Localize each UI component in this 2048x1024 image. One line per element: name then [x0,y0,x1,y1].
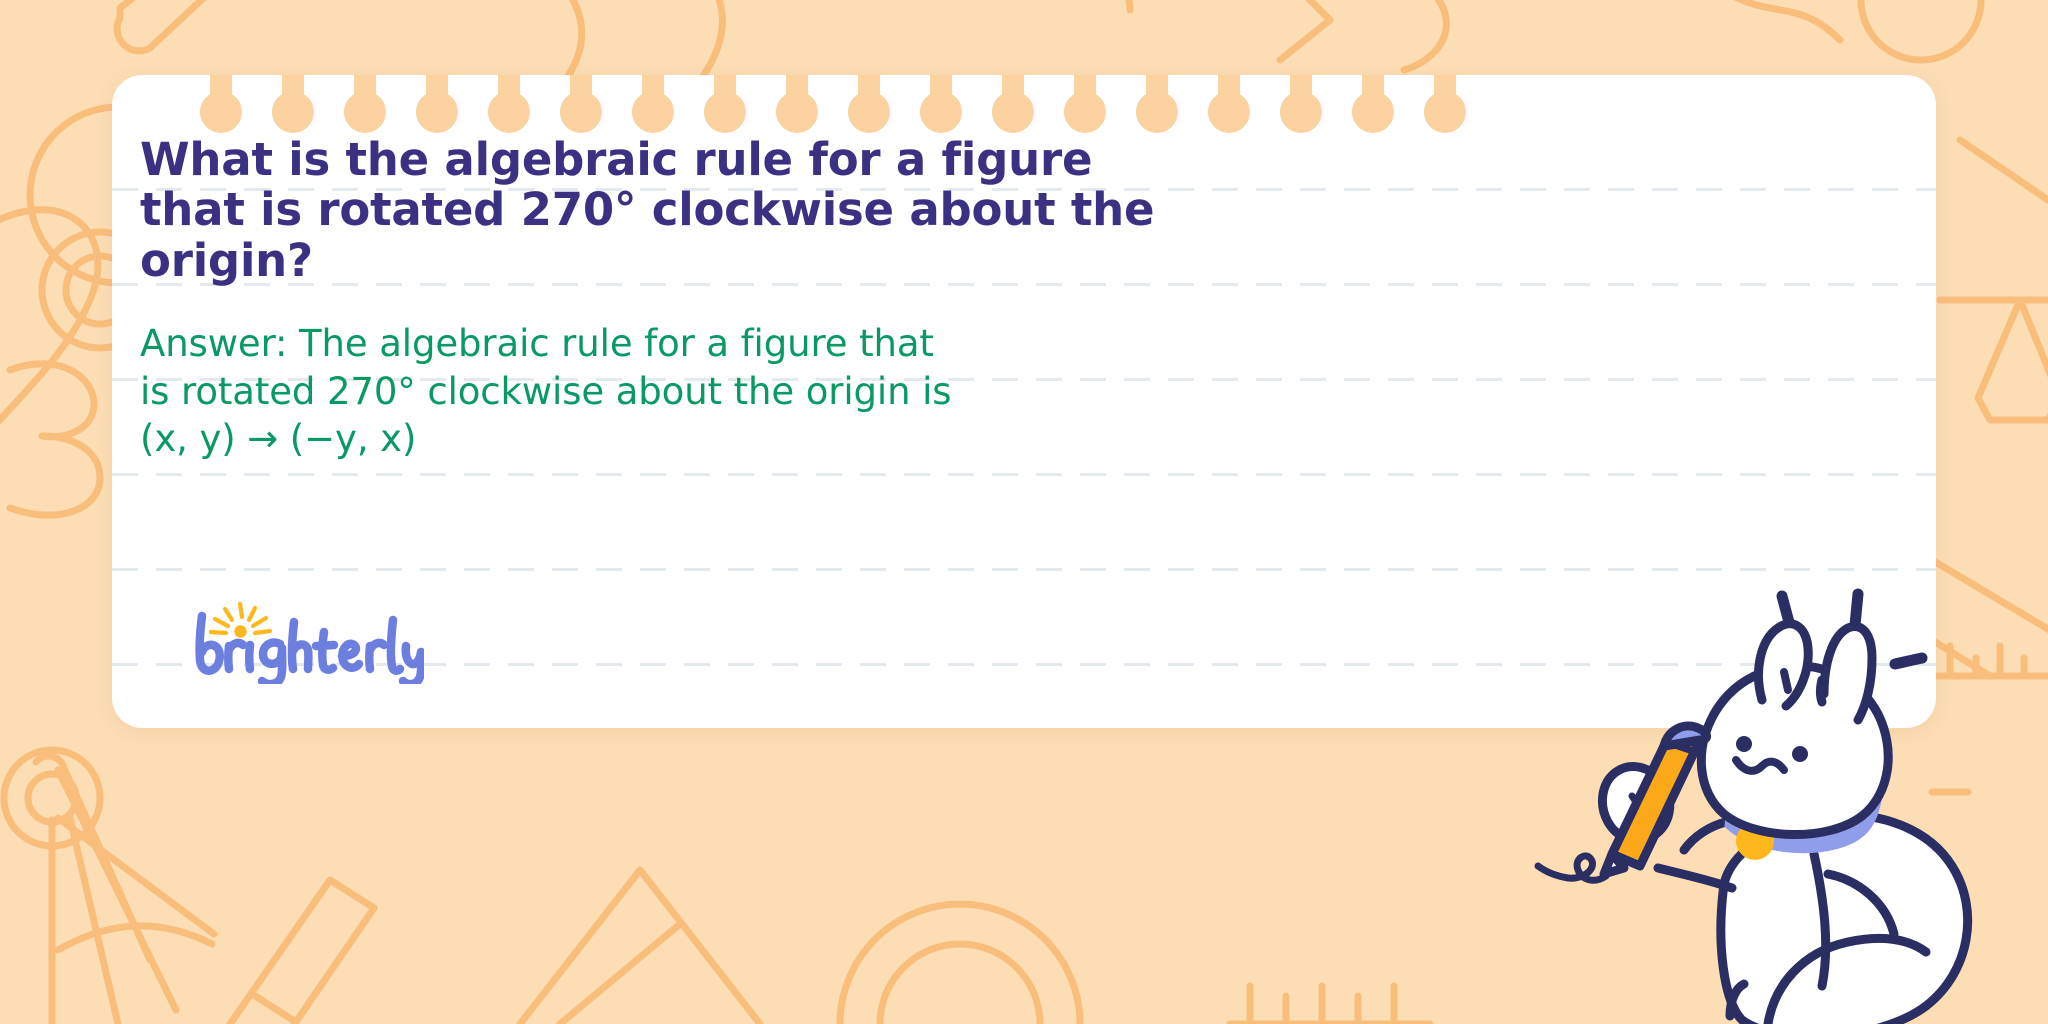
bunny-eye-right [1792,746,1808,762]
binding-hole [1146,75,1168,105]
question-line: origin? [140,234,313,287]
answer-text: Answer: The algebraic rule for a figure … [140,320,1200,462]
bunny-mascot [1528,554,2008,1024]
pencil-squiggle [1538,856,1606,880]
binding-hole [210,75,232,105]
bunny-ear-left [1759,624,1809,706]
binding-hole [786,75,808,105]
logo-wordmark [200,616,422,684]
ruled-line [112,473,1936,476]
ear-inner-left [1784,672,1788,690]
binding-hole [354,75,376,105]
binding-hole [858,75,880,105]
bunny-arm [1658,868,1732,888]
bunny-eye-left [1736,736,1752,752]
brighterly-logo[interactable] [184,598,424,684]
question-text: What is the algebraic rule for a figure … [140,135,1200,286]
question-line: What is the algebraic rule for a figure [140,133,1092,186]
ear-inner-right [1821,680,1823,702]
binding-hole [1362,75,1384,105]
binding-hole [1218,75,1240,105]
binding-hole [930,75,952,105]
binding-hole [1290,75,1312,105]
binding-hole [1074,75,1096,105]
binding-hole [570,75,592,105]
answer-line: Answer: The algebraic rule for a figure … [140,320,1200,367]
answer-line: (x, y) → (−y, x) [140,415,1200,462]
pencil-eraser [1664,726,1707,746]
answer-line: is rotated 270° clockwise about the orig… [140,368,1200,415]
binding-hole [426,75,448,105]
bunny-shoulder [1684,822,1726,850]
sunburst-center [234,625,246,637]
binding-hole [498,75,520,105]
binding-hole [714,75,736,105]
card-content: What is the algebraic rule for a figure … [140,135,1200,462]
binding-hole [642,75,664,105]
binding-hole [1434,75,1456,105]
binding-hole [282,75,304,105]
poster-canvas: What is the algebraic rule for a figure … [0,0,2048,1024]
question-line: that is rotated 270° clockwise about the [140,183,1154,236]
binding-hole [1002,75,1024,105]
